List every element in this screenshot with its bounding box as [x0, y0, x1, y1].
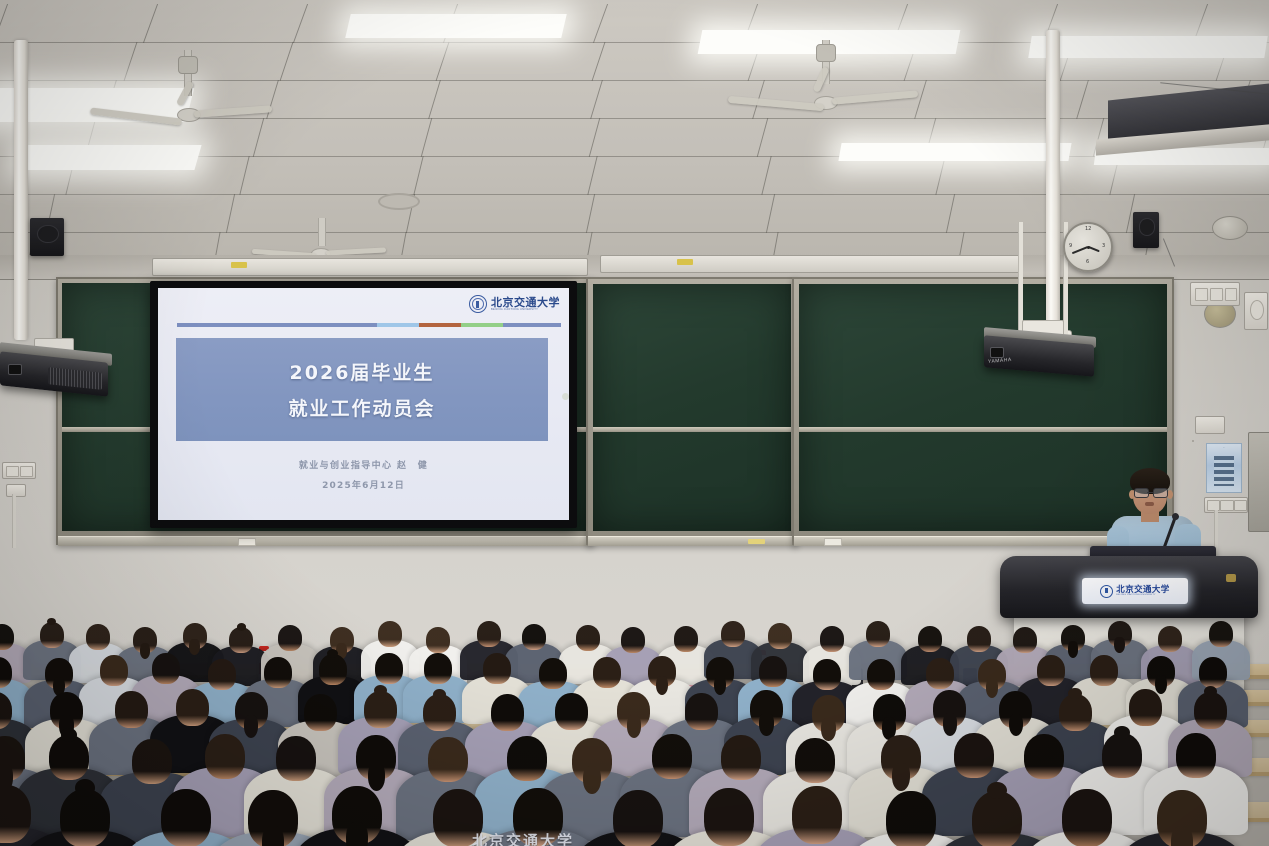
ceiling-projector: [0, 338, 118, 398]
ceiling-tile: [280, 42, 450, 81]
student-head: [0, 624, 14, 650]
student-head: [967, 626, 991, 652]
student-head: [792, 786, 842, 844]
wall-speaker: [30, 218, 64, 256]
student-head: [768, 623, 792, 649]
color-bar-segment-orange-brown: [419, 323, 461, 327]
wall-access-panel: [1248, 432, 1269, 532]
student-head: [491, 694, 524, 731]
student-head: [685, 693, 718, 730]
fluorescent-lamp-housing: [152, 258, 588, 276]
chalkboard: [586, 277, 798, 545]
slide-title-line-1: 2026届毕业生: [290, 358, 435, 385]
university-seal-icon: [1100, 585, 1113, 598]
student-head: [867, 659, 895, 690]
student-head: [1102, 733, 1142, 778]
student-head: [820, 626, 844, 652]
student-head: [1090, 655, 1118, 686]
student-hair: [346, 822, 368, 846]
wall-control-panel[interactable]: [1190, 282, 1240, 306]
student-head: [539, 658, 567, 689]
wall-outlet[interactable]: [6, 484, 26, 497]
student-head: [674, 626, 698, 652]
wall-junction-box: [1192, 440, 1194, 442]
student-head: [621, 627, 645, 653]
wall-outlet[interactable]: [2, 462, 36, 479]
chalk-tray: [58, 536, 592, 546]
student-head: [721, 621, 745, 647]
student-head: [100, 655, 128, 686]
student-head: [795, 738, 835, 783]
student-head: [152, 653, 180, 684]
wall-poster: ·: [1206, 443, 1242, 493]
ceiling-light-panel: [16, 145, 201, 170]
university-seal-icon: [469, 295, 487, 313]
presentation-slide: 北京交通大学 BEIJING JIAOTONG UNIVERSITY 2026届…: [158, 288, 569, 520]
student-hair: [627, 715, 642, 738]
ceiling-tile: [46, 194, 235, 233]
ceiling-tile: [239, 156, 423, 195]
ceiling-tile: [436, 42, 606, 81]
student-head: [972, 791, 1022, 846]
student-head: [926, 658, 954, 689]
ceiling-tile: [413, 156, 597, 195]
student-head: [424, 653, 452, 684]
ceiling-light-panel: [838, 143, 1071, 161]
student-head: [954, 733, 994, 778]
student-hair: [433, 689, 446, 700]
student-head: [319, 654, 347, 685]
slide-color-bar: [177, 323, 561, 327]
student-hair: [75, 779, 95, 796]
slide-title-line-2: 就业工作动员会: [288, 394, 435, 421]
ceiling-light-panel: [1028, 36, 1267, 58]
student-head: [613, 790, 663, 846]
student-head: [593, 657, 621, 688]
lectern-logo-cn: 北京交通大学: [1116, 586, 1169, 595]
ceiling-fan: [128, 50, 248, 132]
student-head: [86, 624, 110, 650]
student-head: [49, 735, 89, 780]
student-head: [1024, 734, 1064, 779]
student-head: [652, 734, 692, 779]
ceiling-tile: [761, 156, 945, 195]
student-head: [1209, 621, 1233, 647]
student-hair: [1114, 637, 1125, 653]
ceiling-tile: [589, 118, 769, 157]
presenter-mouth: [1145, 502, 1154, 506]
student-head: [483, 653, 511, 684]
student-head: [721, 735, 761, 780]
student-head: [522, 624, 546, 650]
lectern-logo-plate: 北京交通大学 BEIJING JIAOTONG UNIVERSITY: [1082, 578, 1188, 604]
student-hair: [1171, 826, 1193, 846]
student-head: [1037, 655, 1065, 686]
student-head: [1059, 694, 1092, 731]
student-head: [115, 691, 148, 728]
student-hair: [1068, 641, 1079, 657]
student-head: [1129, 689, 1162, 726]
student-hair: [943, 713, 958, 736]
student-head: [40, 622, 64, 648]
student-head: [1194, 692, 1227, 729]
wall-switch-panel[interactable]: [1244, 292, 1268, 330]
slide-title-box: 2026届毕业生 就业工作动员会: [176, 338, 548, 441]
student-head: [205, 734, 245, 779]
student-head: [704, 788, 754, 846]
student-head: [176, 689, 209, 726]
ceiling-tile: [766, 194, 955, 233]
university-logo: 北京交通大学 BEIJING JIAOTONG UNIVERSITY: [469, 295, 560, 313]
student-head: [813, 659, 841, 690]
color-bar-segment-slate-blue: [177, 323, 377, 327]
student-hair: [821, 718, 836, 741]
wall-dome-fixture: [1212, 216, 1248, 240]
student-head: [1199, 657, 1227, 688]
logo-text-cn: 北京交通大学: [491, 297, 560, 308]
student-hair: [374, 685, 387, 696]
student-head: [886, 791, 936, 846]
student-head: [759, 656, 787, 687]
ceiling-tile: [587, 156, 771, 195]
logo-text-en: BEIJING JIAOTONG UNIVERSITY: [491, 309, 560, 312]
poster-title: ·: [1207, 446, 1241, 450]
ceiling-projector: YAMAHA: [980, 320, 1102, 382]
clock-minute-hand: [1072, 246, 1088, 254]
lectern-corner-marker: [1226, 574, 1236, 582]
student-hair: [262, 826, 284, 846]
color-bar-segment-light-blue: [377, 323, 419, 327]
student-head: [276, 736, 316, 781]
student-head: [132, 739, 172, 784]
ceiling-tile: [0, 4, 158, 43]
student-head: [426, 627, 450, 653]
student-hair: [1204, 686, 1217, 697]
audience-area: 北京交通大学: [0, 612, 1269, 846]
student-hair: [368, 763, 386, 791]
slide-date-line: 2025年6月12日: [158, 478, 569, 491]
ceiling-light-panel: [345, 14, 567, 38]
ceiling-tile: [428, 80, 603, 119]
student-hair: [61, 728, 77, 742]
lecture-hall-photo: 北京交通大学 BEIJING JIAOTONG UNIVERSITY 2026届…: [0, 0, 1269, 846]
student-head: [423, 694, 456, 731]
student-hair: [892, 763, 910, 791]
student-head: [60, 789, 110, 846]
lectern-logo-en: BEIJING JIAOTONG UNIVERSITY: [1116, 594, 1169, 596]
ceiling-tile: [406, 194, 595, 233]
ceiling-tile: [914, 80, 1089, 119]
ceiling-tile: [266, 80, 441, 119]
wall-speaker: [1133, 212, 1159, 248]
color-bar-segment-green: [461, 323, 503, 327]
chalk-tray: [588, 536, 796, 546]
slide-presenter-line: 就业与创业指导中心 赵 健: [158, 458, 569, 471]
support-pole: [1046, 30, 1060, 348]
student-head: [555, 693, 588, 730]
support-pole: [14, 40, 28, 340]
student-head: [278, 625, 302, 651]
student-head: [477, 621, 501, 647]
wall-conduit: [12, 494, 16, 548]
student-jacket-text: 北京交通大学: [472, 830, 574, 846]
ceiling-fan: [746, 40, 906, 130]
student-hair: [986, 678, 998, 697]
projection-screen: 北京交通大学 BEIJING JIAOTONG UNIVERSITY 2026届…: [150, 281, 577, 528]
wall-outlet[interactable]: [1195, 416, 1225, 434]
student-hair: [583, 766, 601, 794]
ceiling-tile: [935, 156, 1119, 195]
screen-edge-marker: [562, 393, 569, 400]
student-head: [507, 736, 547, 781]
student-head: [1176, 733, 1216, 778]
student-head: [866, 621, 890, 647]
ceiling-tile: [253, 118, 433, 157]
student-head: [264, 657, 292, 688]
color-bar-segment-slate-blue-end: [503, 323, 561, 327]
ceiling-tile: [586, 194, 775, 233]
student-head: [304, 694, 337, 731]
student-head: [375, 653, 403, 684]
student-head: [378, 621, 402, 647]
fluorescent-lamp-housing: [600, 255, 1022, 273]
wall-clock: 12 3 6 9: [1063, 222, 1113, 272]
student-head: [918, 626, 942, 652]
ceiling-tile: [946, 194, 1135, 233]
student-hair: [759, 713, 774, 736]
wall-switch-group[interactable]: [1204, 497, 1248, 513]
student-head: [1013, 627, 1037, 653]
student-head: [229, 627, 253, 653]
student-head: [1062, 789, 1112, 846]
student-head: [1158, 626, 1182, 652]
ceiling-vent: [378, 193, 420, 210]
ceiling-tile: [143, 4, 308, 43]
student-head: [208, 659, 236, 690]
student-head: [576, 625, 600, 651]
student-head: [364, 691, 397, 728]
glasses-icon: [1134, 488, 1166, 496]
ceiling-tile: [421, 118, 601, 157]
student-head: [161, 789, 211, 846]
student-hair: [237, 623, 247, 631]
student-head: [428, 737, 468, 782]
